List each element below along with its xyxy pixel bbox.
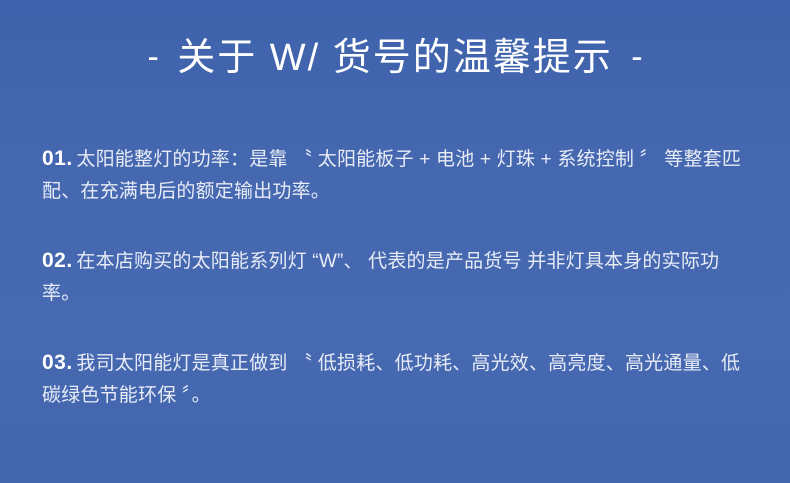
list-item: 03.我司太阳能灯是真正做到 〝 低损耗、低功耗、高光效、高亮度、高光通量、低碳…: [42, 347, 750, 412]
list-item-text: 太阳能整灯的功率：是靠 〝 太阳能板子 + 电池 + 灯珠 + 系统控制 〞 等…: [42, 149, 741, 202]
title-text: 关于 W/ 货号的温馨提示: [177, 34, 613, 82]
list-item: 01.太阳能整灯的功率：是靠 〝 太阳能板子 + 电池 + 灯珠 + 系统控制 …: [42, 143, 750, 208]
promo-poster: - 关于 W/ 货号的温馨提示 - 01.太阳能整灯的功率：是靠 〝 太阳能板子…: [0, 0, 790, 483]
list-item-number-dot: .: [66, 351, 72, 374]
list-item-number: 03: [42, 351, 66, 374]
list-item-text: 我司太阳能灯是真正做到 〝 低损耗、低功耗、高光效、高亮度、高光通量、低碳绿色节…: [42, 353, 740, 406]
list-item-number: 02: [42, 249, 66, 272]
page-title: - 关于 W/ 货号的温馨提示 -: [0, 33, 790, 82]
title-dash-left-icon: -: [147, 33, 158, 81]
list-item-number: 01: [42, 147, 66, 170]
list-item-text: 在本店购买的太阳能系列灯 “W”、 代表的是产品货号 并非灯具本身的实际功率。: [42, 251, 719, 304]
list-item-number-dot: .: [66, 249, 72, 272]
list-item-number-dot: .: [66, 147, 72, 170]
poster-content: - 关于 W/ 货号的温馨提示 - 01.太阳能整灯的功率：是靠 〝 太阳能板子…: [0, 0, 790, 483]
title-dash-right-icon: -: [631, 33, 642, 81]
notice-list: 01.太阳能整灯的功率：是靠 〝 太阳能板子 + 电池 + 灯珠 + 系统控制 …: [42, 124, 750, 431]
list-item: 02.在本店购买的太阳能系列灯 “W”、 代表的是产品货号 并非灯具本身的实际功…: [42, 245, 750, 310]
